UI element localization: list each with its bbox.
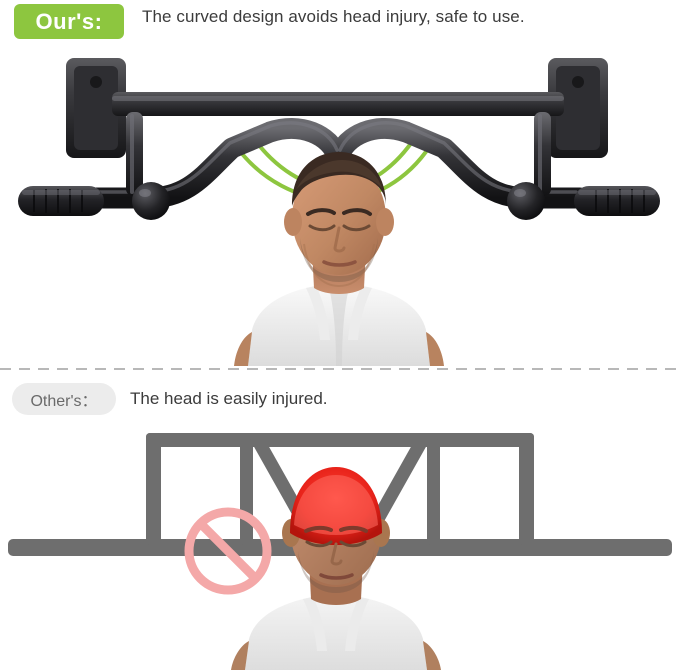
others-caption: The head is easily injured. xyxy=(130,389,328,409)
our-model-photo xyxy=(234,152,444,366)
other-product-illustration xyxy=(0,371,679,670)
ours-badge: Our's: xyxy=(14,4,124,39)
our-product-panel: Our's: The curved design avoids head inj… xyxy=(0,0,679,366)
ours-caption: The curved design avoids head injury, sa… xyxy=(142,7,525,27)
section-divider xyxy=(0,368,679,370)
back-beam xyxy=(112,92,564,116)
others-badge-label: Other's： xyxy=(30,387,97,411)
other-product-panel: Other's： The head is easily injured. xyxy=(0,371,679,670)
others-badge: Other's： xyxy=(12,383,116,415)
ours-badge-label: Our's: xyxy=(36,9,103,35)
our-product-illustration xyxy=(0,0,679,366)
